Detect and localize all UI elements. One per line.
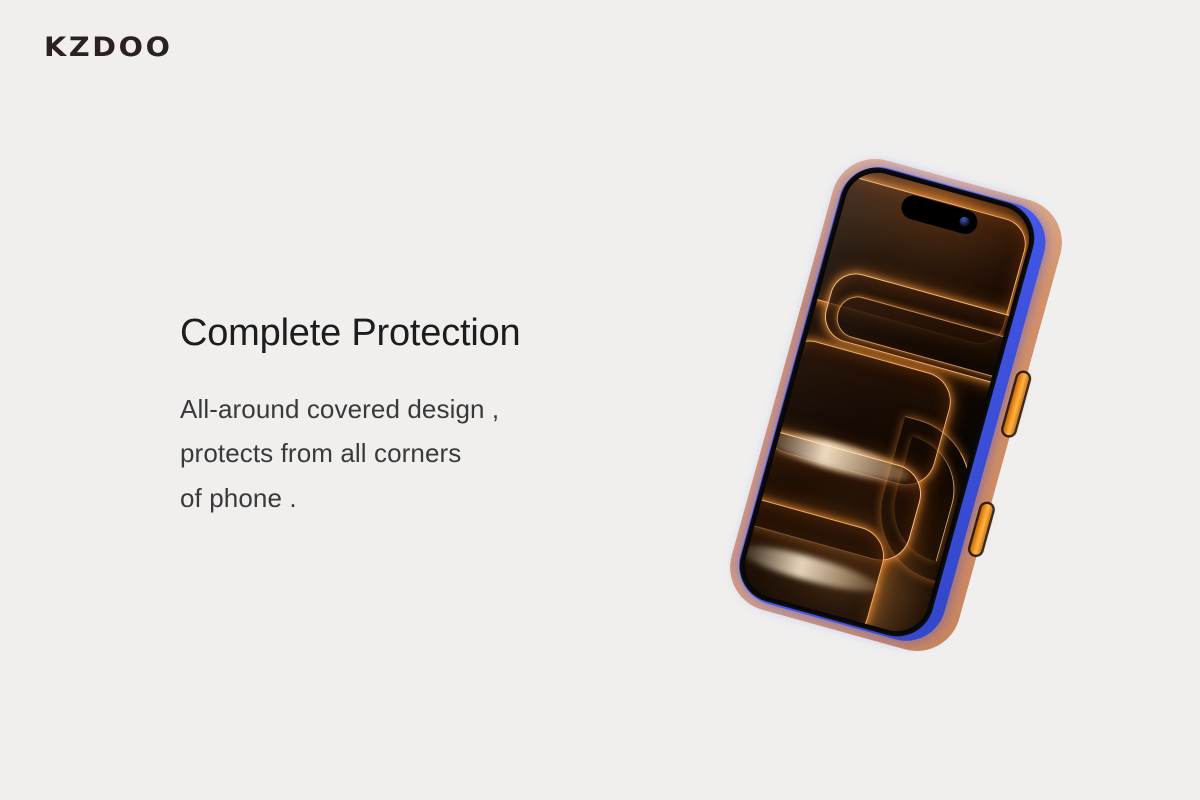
body-copy-line: All-around covered design , <box>180 387 650 432</box>
body-copy: All-around covered design , protects fro… <box>180 356 650 521</box>
copy-block: Complete Protection All-around covered d… <box>180 312 650 521</box>
phone-device <box>720 149 1072 661</box>
body-copy-line: protects from all corners <box>180 431 650 476</box>
body-copy-line: of phone . <box>180 476 650 521</box>
front-camera-icon <box>958 215 970 227</box>
headline: Complete Protection <box>180 312 650 356</box>
product-image <box>700 150 1100 670</box>
marketing-slide: KZDOO Complete Protection All-around cov… <box>0 0 1200 800</box>
brand-logo: KZDOO <box>44 34 173 61</box>
